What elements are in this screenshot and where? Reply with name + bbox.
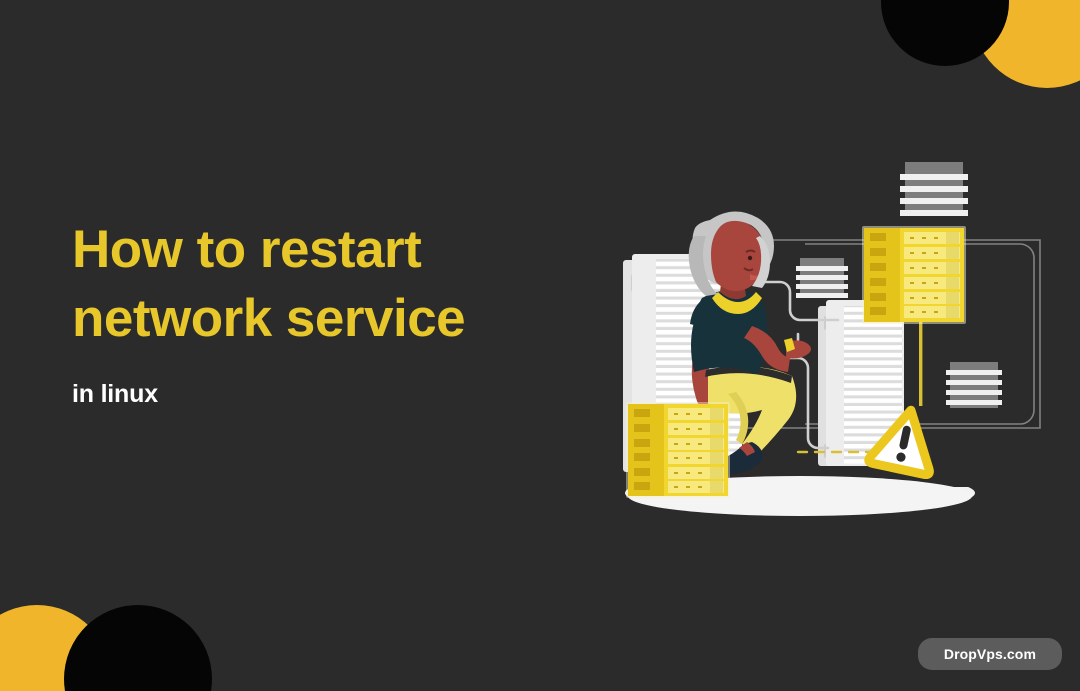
grey-server-stack-right <box>946 362 1002 408</box>
headline-block: How to restart network service in linux <box>72 216 592 409</box>
page-title: How to restart network service <box>72 216 592 354</box>
decoration-bottom-left-black-circle <box>64 605 212 691</box>
grey-server-stack-middle <box>796 258 848 298</box>
yellow-server-rack-floating <box>862 226 966 324</box>
watermark-badge[interactable]: DropVps.com <box>918 638 1062 670</box>
grey-server-stack-top <box>900 162 968 216</box>
yellow-rack-pole <box>919 322 922 406</box>
page-subtitle: in linux <box>72 380 592 409</box>
banner-root: How to restart network service in linux … <box>0 0 1080 691</box>
server-maintenance-illustration <box>560 140 1060 520</box>
yellow-server-rack-seat <box>626 402 730 498</box>
